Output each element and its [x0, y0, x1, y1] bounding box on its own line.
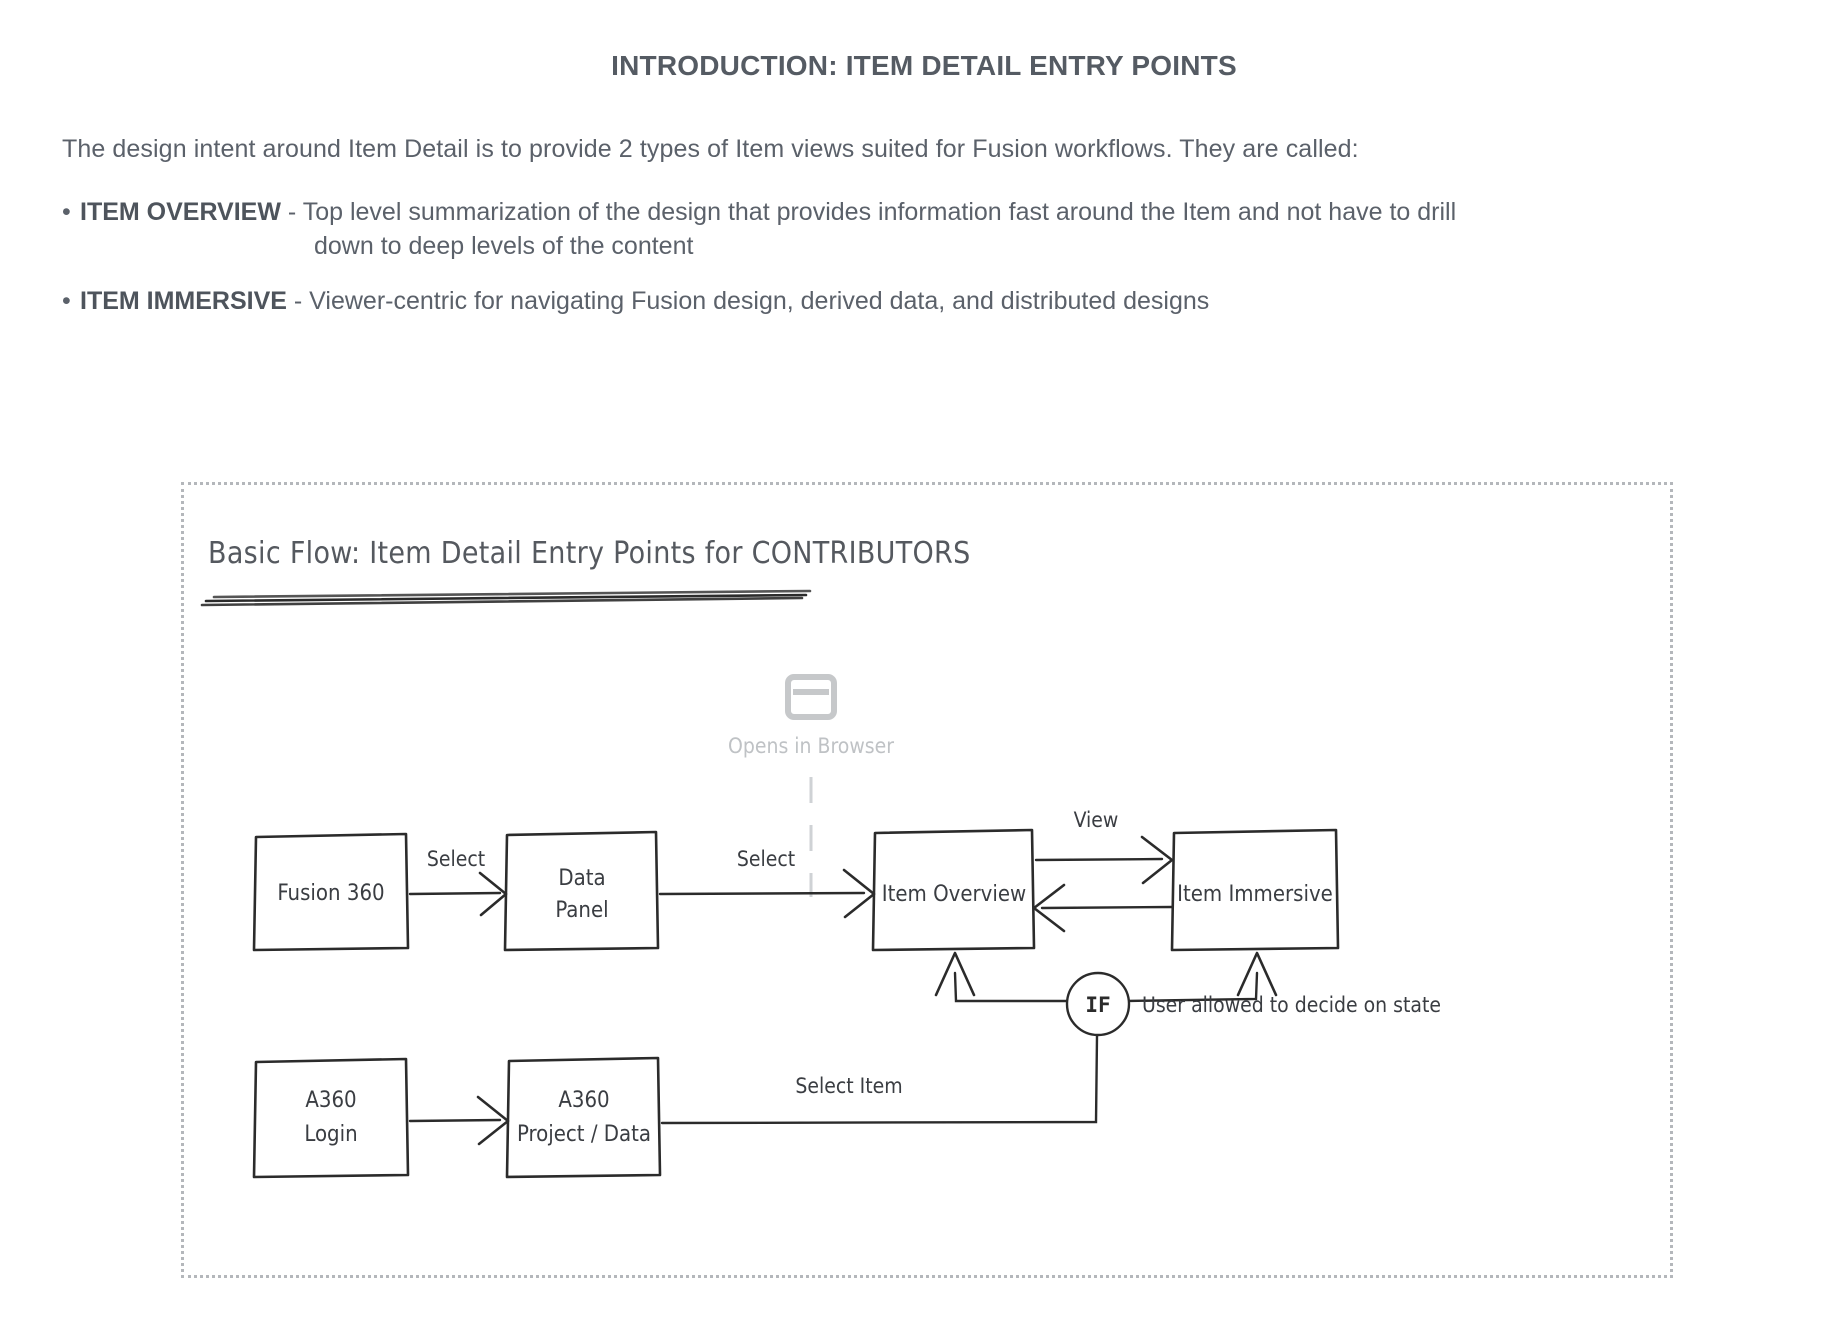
diagram-container: .dg-title { font-family: "DejaVu Sans Co… [181, 482, 1673, 1278]
node-fusion-360[interactable]: Fusion 360 [254, 834, 408, 950]
decision-if-node[interactable]: IF [1067, 973, 1129, 1035]
page-title: INTRODUCTION: ITEM DETAIL ENTRY POINTS [0, 50, 1848, 82]
node-a360-project-data[interactable]: A360 Project / Data [507, 1058, 660, 1177]
bullet-description: - Viewer-centric for navigating Fusion d… [287, 287, 1209, 315]
edge-a360login-to-project [410, 1097, 508, 1144]
node-label-2: Login [304, 1122, 357, 1147]
edge-immersive-to-overview [1034, 885, 1172, 931]
edge-datapanel-to-overview: Select [660, 847, 874, 917]
edge-project-to-if: Select Item [662, 1036, 1097, 1123]
node-item-immersive[interactable]: Item Immersive [1172, 830, 1338, 950]
edge-fusion-to-datapanel: Select [410, 847, 506, 915]
decision-annotation: User allowed to decide on state [1142, 993, 1441, 1017]
node-label-2: Panel [555, 898, 608, 923]
node-label: Item Immersive [1177, 882, 1333, 907]
edge-label: Select Item [795, 1074, 902, 1098]
edge-label: Select [737, 847, 795, 871]
title-underline [202, 591, 810, 605]
node-label: Item Overview [882, 882, 1027, 907]
node-label: A360 [305, 1088, 356, 1113]
bullet-marker: • [62, 285, 80, 317]
bullet-marker: • [62, 196, 80, 228]
bullet-description: - Top level summarization of the design … [281, 198, 1456, 226]
opens-in-browser-label: Opens in Browser [728, 734, 894, 758]
diagram-flow-title: Basic Flow: Item Detail Entry Points for… [208, 536, 971, 571]
node-label: Fusion 360 [277, 881, 384, 906]
node-a360-login[interactable]: A360 Login [254, 1059, 408, 1177]
decision-label: IF [1085, 993, 1110, 1017]
intro-paragraph: The design intent around Item Detail is … [62, 135, 1359, 164]
bullet-item-overview: •ITEM OVERVIEW - Top level summarization… [62, 196, 1822, 262]
bullet-continuation: down to deep levels of the content [314, 230, 1822, 262]
edge-if-to-overview [936, 953, 1070, 1001]
node-label: A360 [558, 1088, 609, 1113]
edge-label: Select [427, 847, 485, 871]
node-label-2: Project / Data [517, 1122, 651, 1147]
bullet-term: ITEM OVERVIEW [80, 198, 281, 226]
edge-overview-to-immersive: View [1036, 808, 1172, 883]
browser-window-icon [788, 677, 834, 717]
bullet-term: ITEM IMMERSIVE [80, 287, 287, 315]
flow-diagram: .dg-title { font-family: "DejaVu Sans Co… [184, 485, 1676, 1281]
bullet-item-immersive: •ITEM IMMERSIVE - Viewer-centric for nav… [62, 285, 1822, 317]
node-data-panel[interactable]: Data Panel [505, 832, 658, 950]
node-item-overview[interactable]: Item Overview [873, 830, 1034, 950]
edge-label: View [1074, 808, 1119, 832]
node-label: Data [558, 866, 605, 891]
